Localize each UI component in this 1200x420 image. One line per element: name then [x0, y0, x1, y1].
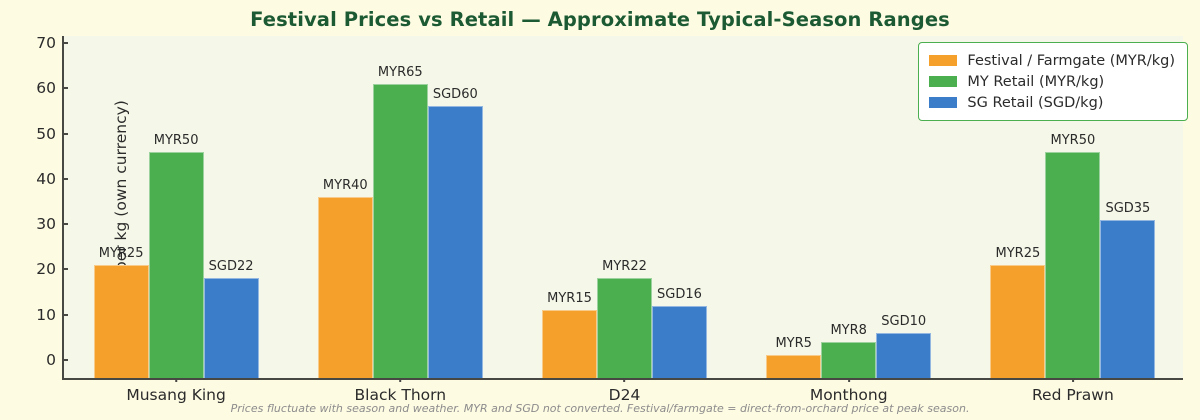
chart-legend: Festival / Farmgate (MYR/kg)MY Retail (M… — [918, 42, 1188, 121]
y-tick-label: 30 — [36, 215, 64, 233]
bar[interactable]: MYR25 — [94, 265, 149, 378]
y-tick-label: 40 — [36, 170, 64, 188]
x-tick-mark — [399, 378, 401, 382]
chart-figure: Festival Prices vs Retail — Approximate … — [0, 0, 1200, 420]
y-tick-label: 70 — [36, 34, 64, 52]
bar[interactable]: MYR40 — [318, 197, 373, 378]
bar[interactable]: MYR22 — [597, 278, 652, 378]
bar[interactable]: SGD35 — [1100, 220, 1155, 378]
bar[interactable]: SGD10 — [876, 333, 931, 378]
bar[interactable]: MYR50 — [149, 152, 204, 378]
bar-group: MYR40MYR65SGD60 — [318, 36, 483, 378]
y-tick-10: 10 — [36, 306, 64, 324]
bar-value-label: MYR15 — [547, 291, 592, 306]
x-tick-black-thorn: Black Thorn — [355, 378, 447, 404]
bar-group: MYR5MYR8SGD10 — [766, 36, 931, 378]
legend-swatch — [929, 55, 957, 66]
y-tick-0: 0 — [46, 351, 64, 369]
chart-title: Festival Prices vs Retail — Approximate … — [0, 8, 1200, 31]
legend-item[interactable]: Festival / Farmgate (MYR/kg) — [929, 50, 1175, 71]
legend-swatch — [929, 97, 957, 108]
legend-label: Festival / Farmgate (MYR/kg) — [967, 53, 1175, 69]
y-tick-20: 20 — [36, 260, 64, 278]
bar[interactable]: MYR65 — [373, 84, 428, 378]
bar-value-label: SGD16 — [657, 287, 702, 302]
bar[interactable]: MYR15 — [542, 310, 597, 378]
bar[interactable]: SGD16 — [652, 306, 707, 378]
bar[interactable]: SGD60 — [428, 106, 483, 378]
bar[interactable]: MYR25 — [990, 265, 1045, 378]
bar-value-label: SGD60 — [433, 87, 478, 102]
x-tick-mark — [1072, 378, 1074, 382]
bar[interactable]: SGD22 — [204, 278, 259, 378]
legend-label: MY Retail (MYR/kg) — [967, 74, 1104, 90]
x-tick-musang-king: Musang King — [126, 378, 226, 404]
bar-group: MYR25MYR50SGD22 — [94, 36, 259, 378]
chart-footnote: Prices fluctuate with season and weather… — [0, 402, 1200, 415]
bar-value-label: MYR8 — [830, 323, 866, 338]
bar-value-label: MYR5 — [775, 336, 811, 351]
bar-value-label: MYR22 — [602, 259, 647, 274]
y-tick-70: 70 — [36, 34, 64, 52]
bar[interactable]: MYR8 — [821, 342, 876, 378]
x-tick-monthong: Monthong — [810, 378, 888, 404]
x-tick-mark — [848, 378, 850, 382]
bar-value-label: MYR50 — [1051, 133, 1096, 148]
x-tick-mark — [623, 378, 625, 382]
y-tick-label: 10 — [36, 306, 64, 324]
x-tick-red-prawn: Red Prawn — [1032, 378, 1114, 404]
y-tick-30: 30 — [36, 215, 64, 233]
x-tick-d24: D24 — [609, 378, 641, 404]
legend-label: SG Retail (SGD/kg) — [967, 95, 1103, 111]
legend-swatch — [929, 76, 957, 87]
x-tick-mark — [175, 378, 177, 382]
legend-item[interactable]: SG Retail (SGD/kg) — [929, 92, 1175, 113]
y-tick-label: 20 — [36, 260, 64, 278]
y-tick-label: 60 — [36, 79, 64, 97]
bar-value-label: SGD35 — [1105, 201, 1150, 216]
bar[interactable]: MYR5 — [766, 355, 821, 378]
bar-value-label: MYR50 — [154, 133, 199, 148]
legend-item[interactable]: MY Retail (MYR/kg) — [929, 71, 1175, 92]
y-tick-60: 60 — [36, 79, 64, 97]
y-tick-label: 0 — [46, 351, 64, 369]
bar[interactable]: MYR50 — [1045, 152, 1100, 378]
y-tick-40: 40 — [36, 170, 64, 188]
y-tick-50: 50 — [36, 125, 64, 143]
bar-value-label: MYR25 — [99, 246, 144, 261]
bar-group: MYR15MYR22SGD16 — [542, 36, 707, 378]
bar-value-label: SGD10 — [881, 314, 926, 329]
bar-value-label: MYR65 — [378, 65, 423, 80]
y-tick-label: 50 — [36, 125, 64, 143]
bar-value-label: SGD22 — [209, 259, 254, 274]
bar-value-label: MYR40 — [323, 178, 368, 193]
bar-value-label: MYR25 — [996, 246, 1041, 261]
